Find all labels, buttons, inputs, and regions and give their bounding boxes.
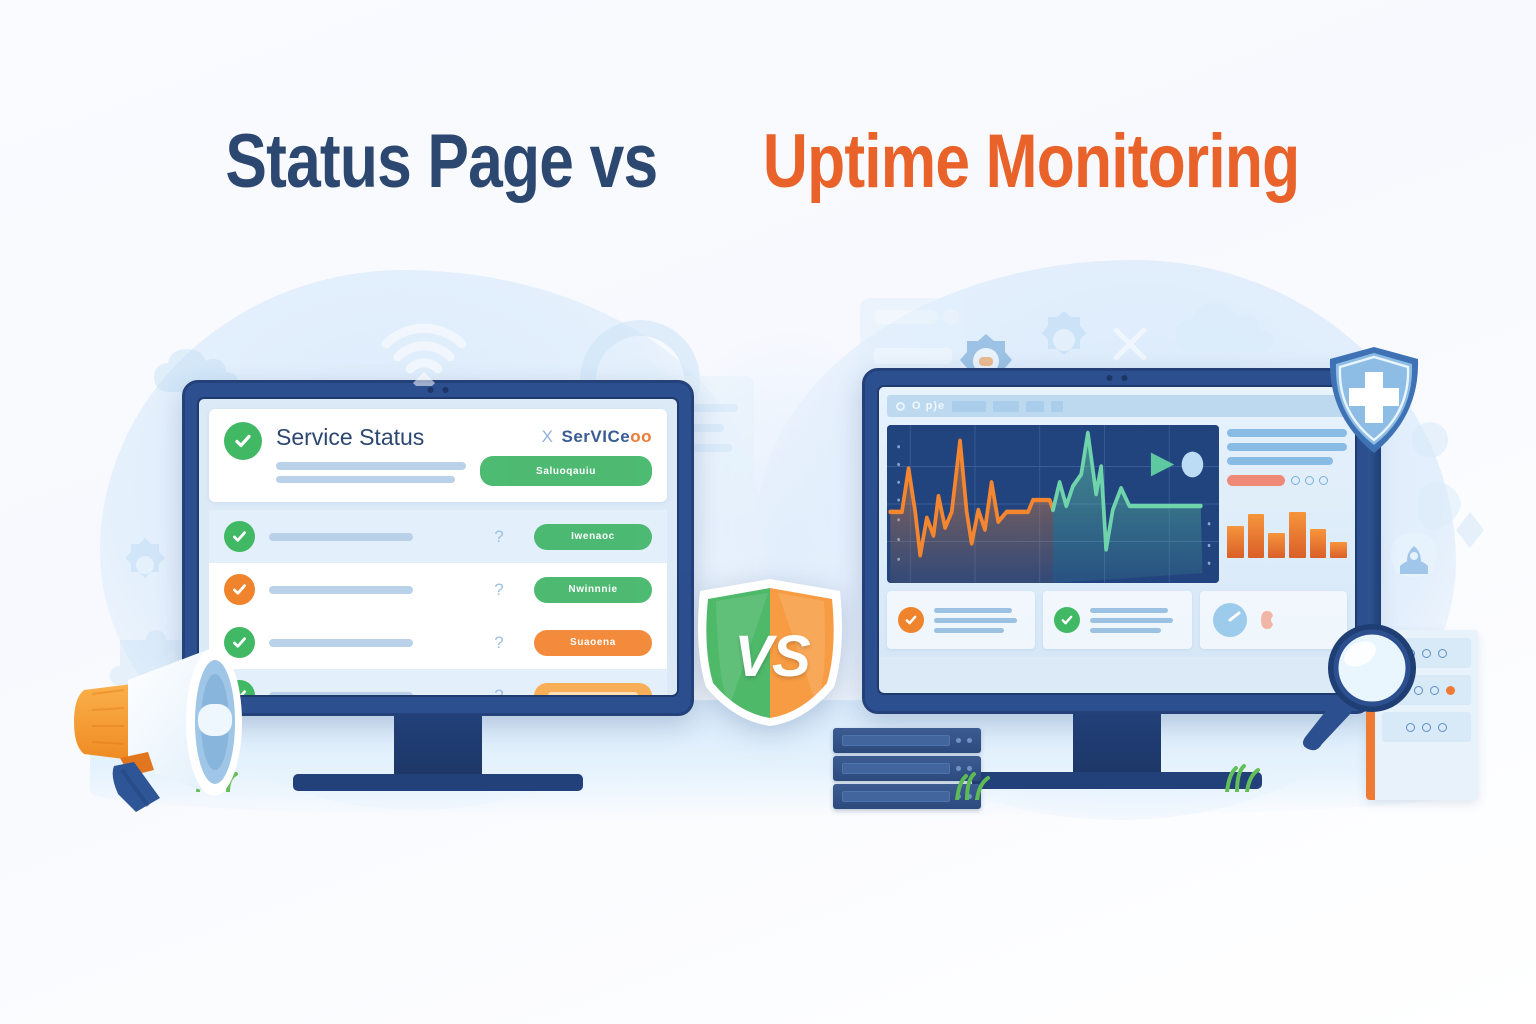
card-lines xyxy=(934,608,1024,633)
brand-name: SerVICe xyxy=(562,427,631,446)
brand-suffix: oo xyxy=(630,427,652,446)
row-value: ? xyxy=(478,686,520,698)
row-status[interactable]: Nwinnnie xyxy=(534,577,652,603)
header-right-block: XSerVICeoo Saluoqauiu xyxy=(480,422,652,486)
row-value: ? xyxy=(478,633,520,653)
row-status[interactable]: Iwenaoc xyxy=(534,524,652,550)
placeholder-bar xyxy=(1227,457,1333,465)
side-metric-row xyxy=(1227,475,1347,486)
header-status-pill[interactable]: Saluoqauiu xyxy=(480,456,652,486)
alert-bar xyxy=(1227,475,1285,486)
placeholder-bar xyxy=(276,476,455,483)
row-status[interactable] xyxy=(534,683,652,698)
spark-icon xyxy=(1108,322,1152,366)
table-row[interactable]: ? Iwenaoc xyxy=(209,510,667,563)
monitor-neck xyxy=(1073,714,1161,772)
page-title-orange: Uptime Monitoring xyxy=(763,118,1299,205)
brand-prefix: X xyxy=(542,427,554,446)
gear-icon xyxy=(110,530,180,600)
header-text-block: Service Status xyxy=(276,422,466,483)
mini-bar-chart xyxy=(1227,506,1347,558)
page-title-dark: Status Page vs xyxy=(225,118,657,205)
status-card[interactable] xyxy=(887,591,1035,649)
check-circle-icon xyxy=(224,574,255,605)
monitor-base xyxy=(972,772,1262,789)
row-status[interactable]: Suaoena xyxy=(534,630,652,656)
megaphone-icon xyxy=(62,630,312,815)
grass-icon xyxy=(952,770,996,805)
header-placeholder-lines xyxy=(276,462,466,483)
page-title: Status Page vs Uptime Monitoring xyxy=(0,118,1536,205)
vs-label: VS xyxy=(688,579,856,734)
row-value: ? xyxy=(478,527,520,547)
right-screen: O p)e xyxy=(877,385,1357,695)
webcam-dots xyxy=(1107,375,1128,381)
status-rings xyxy=(1291,476,1328,485)
monitoring-dashboard: O p)e xyxy=(879,387,1355,657)
check-circle-icon xyxy=(224,521,255,552)
monitor-base xyxy=(293,774,583,791)
chart-svg xyxy=(887,425,1219,583)
illustration-stage: Status Page vs Uptime Monitoring xyxy=(0,0,1536,1024)
table-row[interactable]: ? Nwinnnie xyxy=(209,563,667,616)
cloud-icon xyxy=(1160,290,1300,370)
speed-gauge-icon xyxy=(1210,600,1250,640)
row-label xyxy=(269,533,464,541)
check-circle-icon xyxy=(898,607,924,633)
rocket-icon xyxy=(1374,528,1454,600)
placeholder-bar xyxy=(276,462,466,470)
phone-icon xyxy=(1258,605,1288,635)
address-bar-text: O p)e xyxy=(912,400,945,412)
card-lines xyxy=(1090,608,1180,633)
check-circle-icon xyxy=(224,422,262,460)
dashboard-cards xyxy=(887,591,1347,649)
status-dot-icon xyxy=(896,402,905,411)
dashboard-body xyxy=(887,425,1347,583)
row-label xyxy=(269,586,464,594)
monitor-neck xyxy=(394,716,482,774)
shield-health-icon xyxy=(1326,344,1422,456)
row-value: ? xyxy=(478,580,520,600)
vs-badge: VS xyxy=(686,575,854,730)
magnifier-icon xyxy=(1290,612,1425,752)
check-circle-icon xyxy=(1054,607,1080,633)
browser-address-bar[interactable]: O p)e xyxy=(887,395,1347,417)
screen-title: Service Status xyxy=(276,422,466,449)
service-status-header: Service Status XSerVICeoo Saluoqauiu xyxy=(209,409,667,502)
wifi-icon xyxy=(378,324,470,386)
webcam-dots xyxy=(428,387,449,393)
grass-icon xyxy=(1222,762,1262,797)
response-time-chart xyxy=(887,425,1219,583)
brand-label: XSerVICeoo xyxy=(480,422,652,447)
status-card[interactable] xyxy=(1043,591,1191,649)
